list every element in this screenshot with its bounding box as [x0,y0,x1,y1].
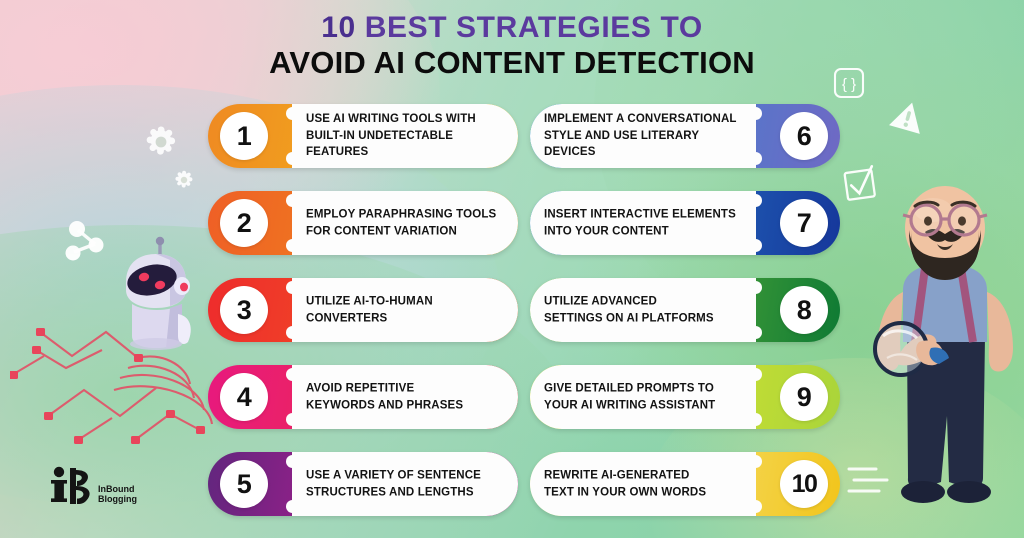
strategy-text-line-2: TEXT IN YOUR OWN WORDS [544,484,742,501]
title-number: 10 [321,11,356,44]
gear-icon [141,122,181,167]
strategy-text: GIVE DETAILED PROMPTS TO YOUR AI WRITING… [544,380,742,413]
strategy-text-line-1: USE AI WRITING TOOLS WITH [306,111,506,128]
card-notch [286,455,299,468]
card-notch [749,455,762,468]
strategy-text-line-1: USE A VARIETY OF SENTENCE [306,467,506,484]
strategy-text: IMPLEMENT A CONVERSATIONAL STYLE AND USE… [544,111,742,161]
strategy-text-line-1: IMPLEMENT A CONVERSATIONAL [544,111,742,128]
strategy-item-8[interactable]: 8 UTILIZE ADVANCED SETTINGS ON AI PLATFO… [530,278,840,342]
infographic-canvas: { } [0,0,1024,538]
strategy-text: UTILIZE ADVANCED SETTINGS ON AI PLATFORM… [544,293,742,326]
title-line-2: AVOID AI CONTENT DETECTION [0,46,1024,80]
card-notch [749,500,762,513]
strategy-text-line-2: INTO YOUR CONTENT [544,223,742,240]
card-notch [286,107,299,120]
card-notch [749,281,762,294]
strategy-number-badge: 8 [780,286,828,334]
card-notch [286,152,299,165]
strategy-number-badge: 7 [780,199,828,247]
strategy-number-badge: 4 [220,373,268,421]
strategy-text-line-2: BUILT-IN UNDETECTABLE FEATURES [306,128,506,161]
strategy-text: UTILIZE AI-TO-HUMAN CONVERTERS [306,293,506,326]
card-notch [286,326,299,339]
card-notch [749,326,762,339]
strategy-text-line-1: GIVE DETAILED PROMPTS TO [544,380,742,397]
gear-icon [172,168,196,197]
strategy-item-9[interactable]: 9 GIVE DETAILED PROMPTS TO YOUR AI WRITI… [530,365,840,429]
strategy-text: USE A VARIETY OF SENTENCE STRUCTURES AND… [306,467,506,500]
strategy-text-line-2: FOR CONTENT VARIATION [306,223,506,240]
strategy-item-10[interactable]: 10 REWRITE AI-GENERATED TEXT IN YOUR OWN… [530,452,840,516]
card-notch [286,500,299,513]
strategy-item-3[interactable]: 3 UTILIZE AI-TO-HUMAN CONVERTERS [208,278,518,342]
strategy-number-badge: 9 [780,373,828,421]
strategy-text-line-1: EMPLOY PARAPHRASING TOOLS [306,206,506,223]
strategy-item-2[interactable]: 2 EMPLOY PARAPHRASING TOOLS FOR CONTENT … [208,191,518,255]
strategy-text-line-2: KEYWORDS AND PHRASES [306,397,506,414]
card-notch [749,239,762,252]
strategy-column-left: 1 USE AI WRITING TOOLS WITH BUILT-IN UND… [208,104,518,538]
strategy-item-4[interactable]: 4 AVOID REPETITIVE KEYWORDS AND PHRASES [208,365,518,429]
strategy-number-badge: 6 [780,112,828,160]
logo-name-line-2: Blogging [98,495,137,504]
strategy-text: USE AI WRITING TOOLS WITH BUILT-IN UNDET… [306,111,506,161]
strategy-text: EMPLOY PARAPHRASING TOOLS FOR CONTENT VA… [306,206,506,239]
strategy-text-line-2: STRUCTURES AND LENGTHS [306,484,506,501]
strategy-number-badge: 3 [220,286,268,334]
strategy-column-right: 6 IMPLEMENT A CONVERSATIONAL STYLE AND U… [530,104,840,538]
strategy-number-badge: 2 [220,199,268,247]
strategy-item-6[interactable]: 6 IMPLEMENT A CONVERSATIONAL STYLE AND U… [530,104,840,168]
robot-character [108,232,200,355]
strategy-text-line-2: STYLE AND USE LITERARY DEVICES [544,128,742,161]
strategy-item-7[interactable]: 7 INSERT INTERACTIVE ELEMENTS INTO YOUR … [530,191,840,255]
strategy-item-1[interactable]: 1 USE AI WRITING TOOLS WITH BUILT-IN UND… [208,104,518,168]
title-line-1: 10 BEST STRATEGIES TO [0,12,1024,44]
strategy-text-line-1: INSERT INTERACTIVE ELEMENTS [544,206,742,223]
strategy-number-badge: 5 [220,460,268,508]
strategy-text-line-1: UTILIZE AI-TO-HUMAN CONVERTERS [306,293,506,326]
strategy-text: INSERT INTERACTIVE ELEMENTS INTO YOUR CO… [544,206,742,239]
card-notch [749,152,762,165]
card-notch [286,194,299,207]
card-notch [749,107,762,120]
card-notch [749,413,762,426]
strategy-item-5[interactable]: 5 USE A VARIETY OF SENTENCE STRUCTURES A… [208,452,518,516]
card-notch [286,368,299,381]
logo-mark-icon [50,466,94,506]
card-notch [286,281,299,294]
page-title: 10 BEST STRATEGIES TO AVOID AI CONTENT D… [0,12,1024,80]
molecule-network-icon [62,218,114,271]
title-line-1-rest: BEST STRATEGIES TO [356,11,703,44]
strategy-text-line-1: REWRITE AI-GENERATED [544,467,742,484]
card-notch [749,368,762,381]
strategy-number-badge: 10 [780,460,828,508]
warning-triangle-icon [888,98,928,141]
strategy-number-badge: 1 [220,112,268,160]
strategy-text-line-2: SETTINGS ON AI PLATFORMS [544,310,742,327]
card-notch [749,194,762,207]
bearded-man-with-magnifying-glass [853,186,1024,538]
card-notch [286,239,299,252]
logo-wordmark: InBound Blogging [98,485,137,506]
brand-logo[interactable]: InBound Blogging [50,466,137,506]
card-notch [286,413,299,426]
strategy-text-line-1: AVOID REPETITIVE [306,380,506,397]
strategy-text: REWRITE AI-GENERATED TEXT IN YOUR OWN WO… [544,467,742,500]
strategy-text-line-1: UTILIZE ADVANCED [544,293,742,310]
strategy-text: AVOID REPETITIVE KEYWORDS AND PHRASES [306,380,506,413]
strategy-text-line-2: YOUR AI WRITING ASSISTANT [544,397,742,414]
